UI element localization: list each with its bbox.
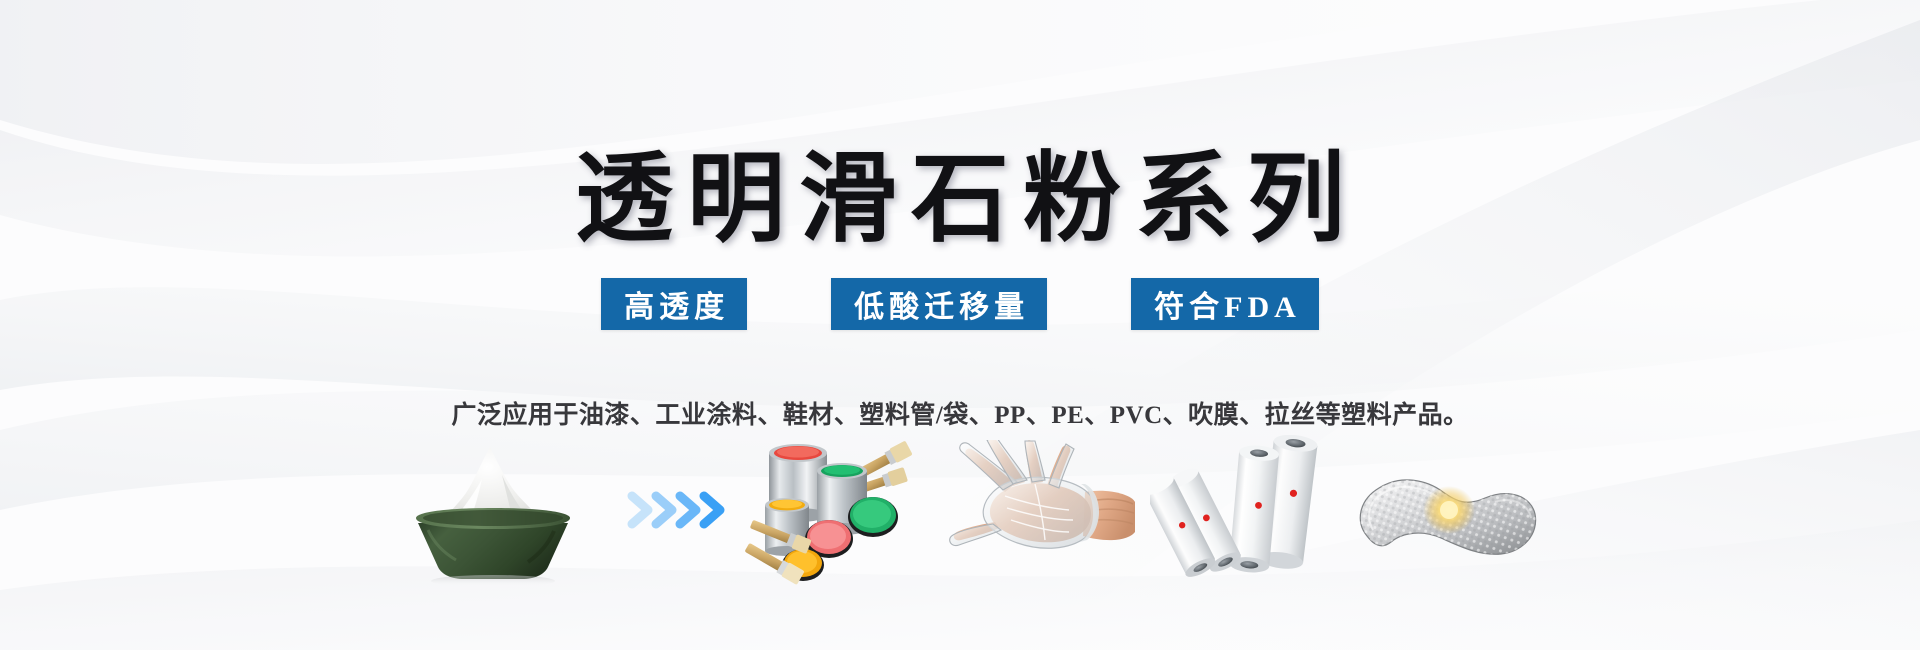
feature-badge-list: 高透度 低酸迁移量 符合FDA: [0, 278, 1920, 330]
application-image-strip: [0, 430, 1920, 590]
product-banner: 透明滑石粉系列 高透度 低酸迁移量 符合FDA 广泛应用于油漆、工业涂料、鞋材、…: [0, 0, 1920, 650]
plastic-film-rolls-image: [1143, 435, 1338, 585]
status-badge-high-transparency: 高透度: [601, 278, 747, 330]
applications-subtitle: 广泛应用于油漆、工业涂料、鞋材、塑料管/袋、PP、PE、PVC、吹膜、拉丝等塑料…: [0, 395, 1920, 431]
shoe-sole-image: [1338, 435, 1553, 585]
page-title: 透明滑石粉系列: [561, 148, 1359, 254]
paint-cans-image: [738, 435, 928, 585]
arrow-chevrons-icon: [618, 435, 738, 585]
status-badge-fda-compliant: 符合FDA: [1131, 278, 1319, 330]
plastic-glove-hand-image: [928, 435, 1143, 585]
talc-powder-bowl-image: [368, 435, 618, 585]
status-badge-low-acid-migration: 低酸迁移量: [831, 278, 1047, 330]
